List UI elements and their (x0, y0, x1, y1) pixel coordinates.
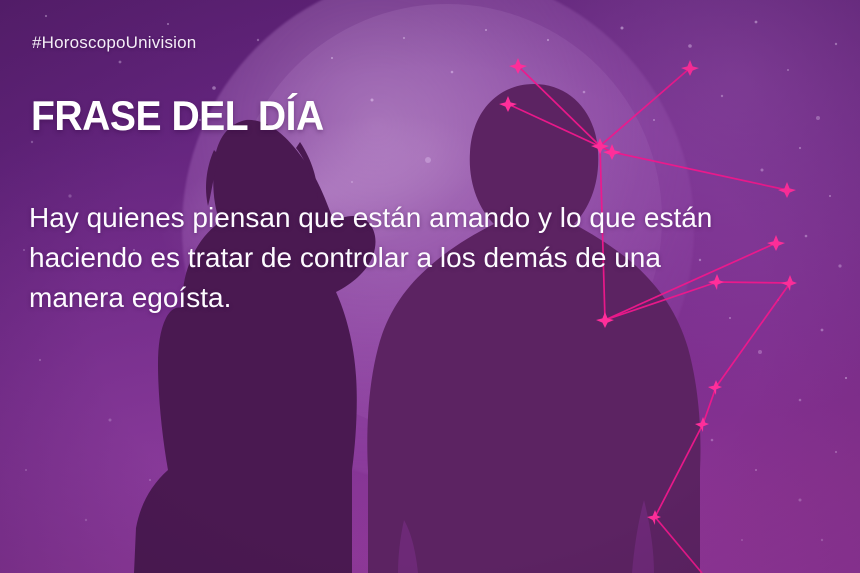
page-title: FRASE DEL DÍA (31, 92, 324, 140)
hashtag-label: #HoroscopoUnivision (32, 33, 196, 53)
quote-line-2: haciendo es tratar de controlar a los de… (29, 238, 819, 278)
horoscope-quote-card: #HoroscopoUnivision FRASE DEL DÍA Hay qu… (0, 0, 860, 573)
quote-text: Hay quienes piensan que están amando y l… (29, 198, 819, 318)
quote-line-1: Hay quienes piensan que están amando y l… (29, 198, 819, 238)
quote-line-3: manera egoísta. (29, 278, 819, 318)
text-content: #HoroscopoUnivision FRASE DEL DÍA Hay qu… (0, 0, 860, 573)
